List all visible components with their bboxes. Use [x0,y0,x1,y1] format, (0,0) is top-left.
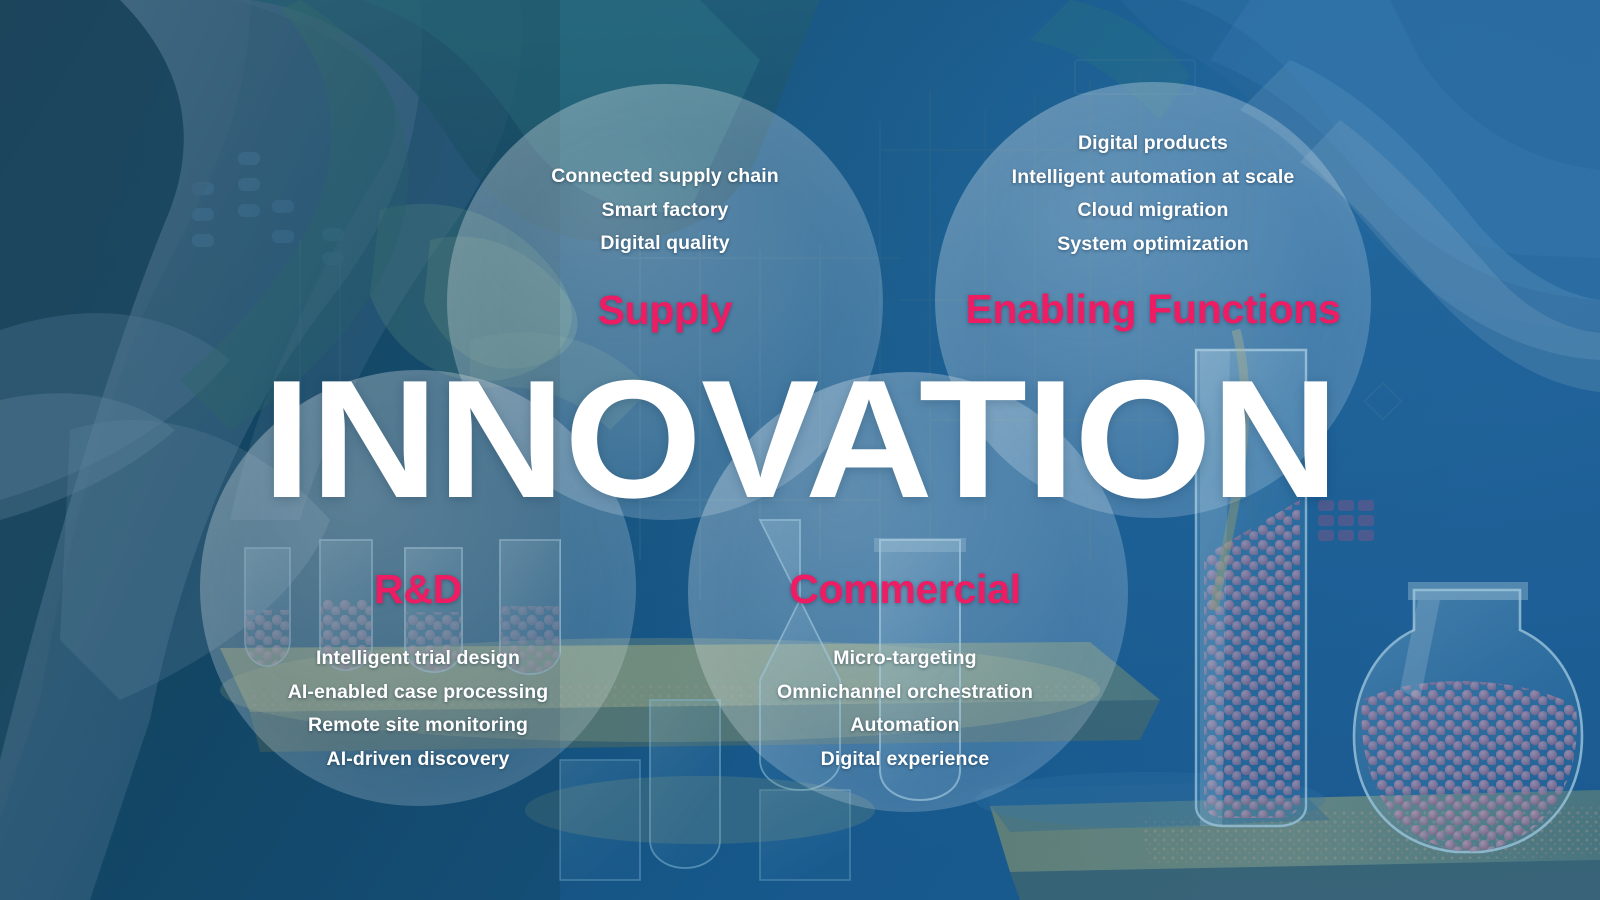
commercial-title: Commercial [625,563,1185,615]
group-enabling-functions: Digital products Intelligent automation … [873,127,1433,335]
rd-item: Remote site monitoring [138,709,698,743]
enabling-item: System optimization [873,228,1433,262]
commercial-item: Digital experience [625,743,1185,777]
rd-title: R&D [138,563,698,615]
supply-item: Digital quality [385,227,945,261]
rd-item-list: Intelligent trial design AI-enabled case… [138,642,698,776]
enabling-item: Digital products [873,127,1433,161]
enabling-item: Cloud migration [873,194,1433,228]
enabling-functions-title: Enabling Functions [873,283,1433,335]
supply-item: Smart factory [385,194,945,228]
group-commercial: Commercial Micro-targeting Omnichannel o… [625,563,1185,776]
enabling-item-list: Digital products Intelligent automation … [873,127,1433,261]
supply-title: Supply [385,284,945,336]
enabling-item: Intelligent automation at scale [873,161,1433,195]
supply-item-list: Connected supply chain Smart factory Dig… [385,160,945,261]
commercial-item: Micro-targeting [625,642,1185,676]
commercial-item: Automation [625,709,1185,743]
commercial-item: Omnichannel orchestration [625,676,1185,710]
commercial-item-list: Micro-targeting Omnichannel orchestratio… [625,642,1185,776]
rd-item: AI-driven discovery [138,743,698,777]
supply-item: Connected supply chain [385,160,945,194]
innovation-venn-slide: INNOVATION Connected supply chain Smart … [0,0,1600,900]
rd-item: Intelligent trial design [138,642,698,676]
page-title: INNOVATION [0,355,1600,523]
rd-item: AI-enabled case processing [138,676,698,710]
group-supply: Connected supply chain Smart factory Dig… [385,160,945,336]
group-rd: R&D Intelligent trial design AI-enabled … [138,563,698,776]
